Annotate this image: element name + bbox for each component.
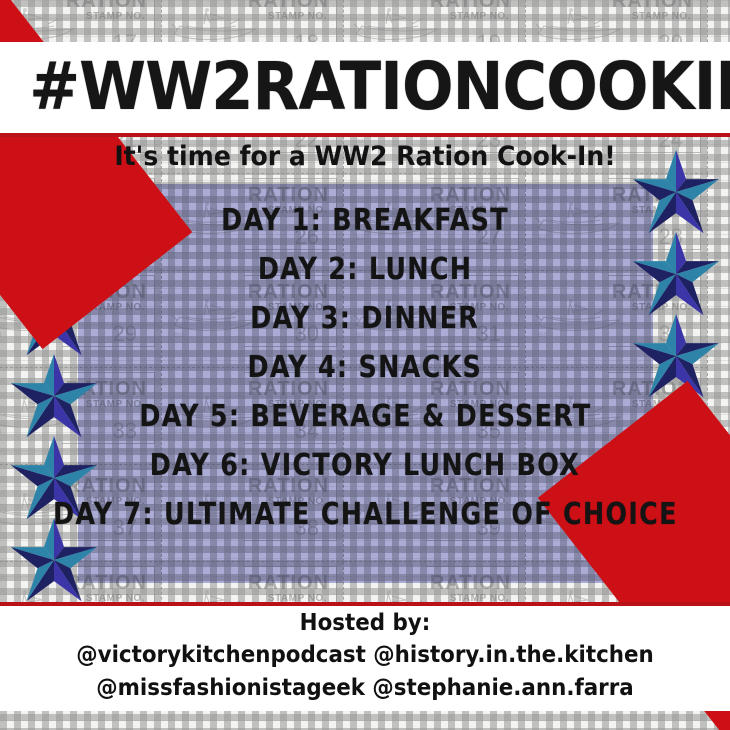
list-item: DAY 4: SNACKS [248,347,483,389]
stamp-no-label: STAMP NO. [268,11,327,22]
page-title: #WW2RATIONCOOKIN [29,47,701,127]
poster-canvas: Bill RATIONSTAMP NO.17 Bill RATIONSTAMP … [0,0,730,730]
subtitle: It's time for a WW2 Ration Cook-In! [26,140,705,174]
list-item: DAY 2: LUNCH [258,249,472,291]
list-item: DAY 5: BEVERAGE & DESSERT [139,396,591,438]
host-handles-line-1: @victorykitchenpodcast @history.in.the.k… [26,639,705,672]
day-challenge-list: DAY 1: BREAKFAST DAY 2: LUNCH DAY 3: DIN… [0,200,730,536]
list-item: DAY 6: VICTORY LUNCH BOX [150,445,580,487]
footer-credits: Hosted by: @victorykitchenpodcast @histo… [0,608,730,705]
svg-text:Bill: Bill [0,138,1,145]
host-handles-line-2: @missfashionistageek @stephanie.ann.farr… [26,672,705,705]
list-item: DAY 7: ULTIMATE CHALLENGE OF CHOICE [53,494,678,536]
list-item: DAY 1: BREAKFAST [221,200,509,242]
list-item: DAY 3: DINNER [251,298,480,340]
hosted-by-label: Hosted by: [26,608,705,639]
stamp-no-label: STAMP NO. [450,11,509,22]
